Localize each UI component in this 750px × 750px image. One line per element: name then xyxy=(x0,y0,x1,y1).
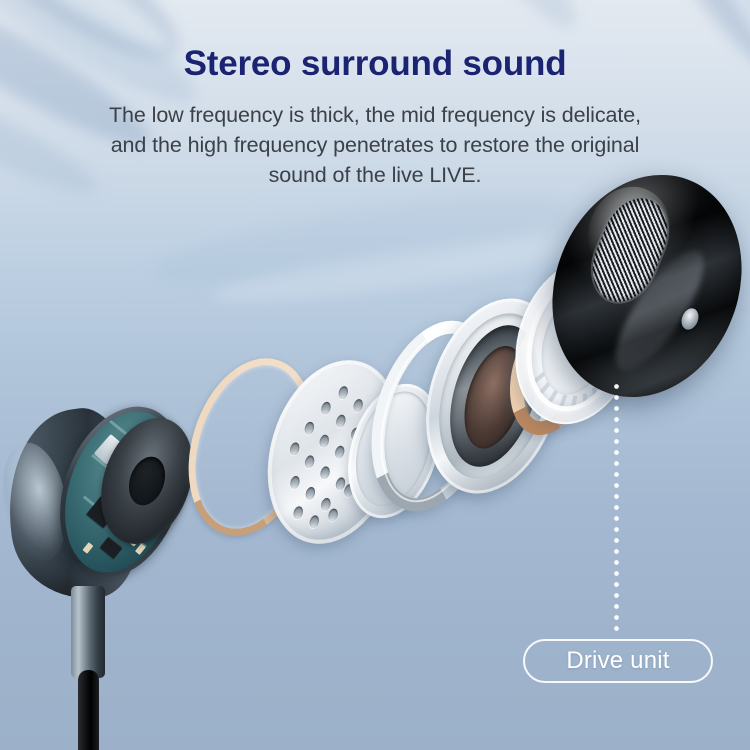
leaf-shadow xyxy=(148,178,572,303)
product-infographic: Stereo surround sound The low frequency … xyxy=(0,0,750,750)
solder-pad xyxy=(135,543,146,555)
solder-pad xyxy=(82,542,93,554)
earbud-shell xyxy=(556,172,738,400)
drive-unit-callout: Drive unit xyxy=(523,639,713,683)
leaf-shadow xyxy=(366,0,595,43)
earphone-housing xyxy=(8,398,190,630)
subtitle-line-2: and the high frequency penetrates to res… xyxy=(30,130,720,160)
drive-unit-label: Drive unit xyxy=(566,647,669,675)
page-title: Stereo surround sound xyxy=(0,44,750,84)
earphone-stem xyxy=(71,586,105,678)
subtitle-line-1: The low frequency is thick, the mid freq… xyxy=(30,100,720,130)
callout-leader-line xyxy=(614,384,619,634)
cable xyxy=(78,670,99,750)
